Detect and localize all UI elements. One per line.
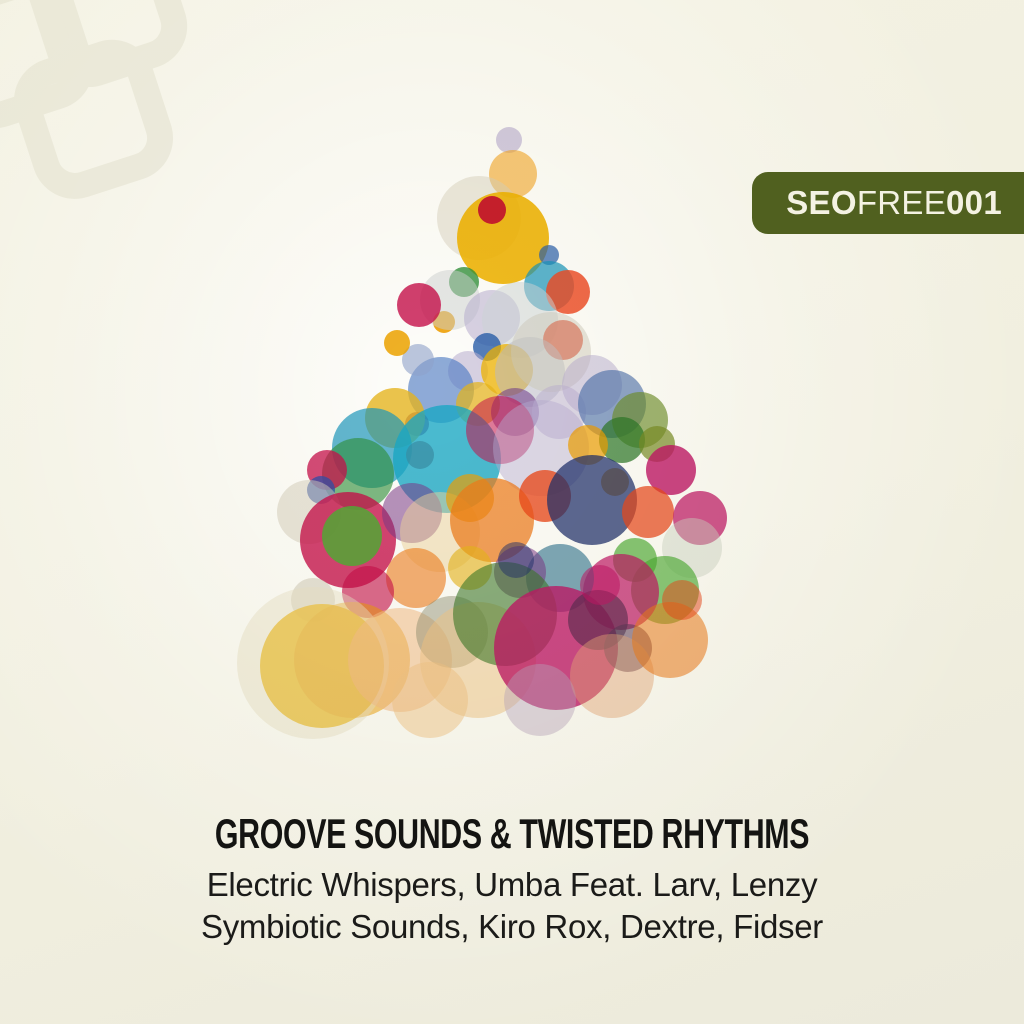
bubble-62 <box>386 548 446 608</box>
artist-line-2: Symbiotic Sounds, Kiro Rox, Dextre, Fids… <box>0 906 1024 948</box>
catalog-prefix: SEO <box>786 184 857 221</box>
bubble-46 <box>322 506 382 566</box>
album-cover: SEOFREE001 GROOVE SOUNDS & TWISTED RHYTH… <box>0 0 1024 1024</box>
bubble-78 <box>504 664 576 736</box>
album-title: GROOVE SOUNDS & TWISTED RHYTHMS <box>142 812 882 856</box>
credits-block: GROOVE SOUNDS & TWISTED RHYTHMS Electric… <box>0 812 1024 949</box>
bubble-52 <box>547 455 637 545</box>
bubble-81 <box>662 580 702 620</box>
bubble-77 <box>392 662 468 738</box>
bubble-4 <box>478 196 506 224</box>
catalog-number-badge[interactable]: SEOFREE001 <box>752 172 1024 234</box>
catalog-number-text: SEOFREE001 <box>786 184 1002 222</box>
bubble-79 <box>580 565 620 605</box>
catalog-suffix: 001 <box>946 184 1002 221</box>
artist-line-1: Electric Whispers, Umba Feat. Larv, Lenz… <box>0 864 1024 906</box>
catalog-middle: FREE <box>857 184 946 221</box>
bubble-80 <box>498 542 534 578</box>
bubble-53 <box>622 486 674 538</box>
bubble-0 <box>496 127 522 153</box>
bubble-23 <box>384 330 410 356</box>
bubble-22 <box>397 283 441 327</box>
